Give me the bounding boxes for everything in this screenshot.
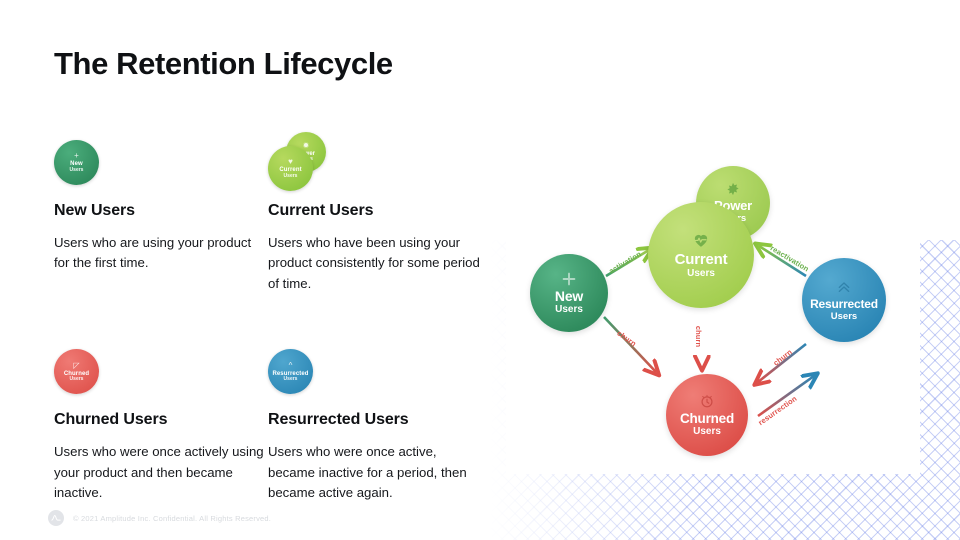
- chevron-up-double-icon: [836, 279, 852, 295]
- feature-heading-new-users: New Users: [54, 202, 268, 220]
- heart-pulse-icon: ♥: [288, 158, 293, 166]
- feature-body-new-users: Users who are using your product for the…: [54, 233, 268, 274]
- badge-current-users: ♥ Current Users: [268, 146, 313, 191]
- feature-body-churned-users: Users who were once actively using your …: [54, 442, 268, 503]
- slide-canvas: The Retention Lifecycle + New Users New …: [0, 0, 960, 540]
- amplitude-logo-icon: [48, 510, 64, 526]
- footer: © 2021 Amplitude Inc. Confidential. All …: [48, 510, 271, 526]
- badge-resurrected-users: ^ Resurrected Users: [268, 349, 313, 394]
- badge-label-line2: Users: [284, 377, 298, 382]
- feature-body-resurrected-users: Users who were once active, became inact…: [268, 442, 482, 503]
- diagram-node-current-users[interactable]: Current Users: [648, 202, 754, 308]
- heart-pulse-icon: [692, 231, 710, 249]
- plus-icon: [562, 272, 576, 286]
- feature-card-churned-users: ◸ Churned Users Churned Users Users who …: [54, 341, 268, 503]
- feature-body-current-users: Users who have been using your product c…: [268, 233, 482, 294]
- lifecycle-diagram-card: activation churn churn resurrection chur…: [506, 154, 920, 474]
- edge-label-current-churn: churn: [694, 326, 703, 347]
- node-label-line1: Current: [675, 251, 728, 268]
- diagram-node-new-users[interactable]: New Users: [530, 254, 608, 332]
- badge-label-line2: Users: [284, 174, 298, 179]
- sparkle-icon: ✹: [303, 142, 310, 150]
- badge-group-current-users: ✹ Power Users ♥ Current Users: [268, 132, 482, 188]
- feature-card-resurrected-users: ^ Resurrected Users Resurrected Users Us…: [268, 341, 482, 503]
- clock-icon: [699, 393, 715, 409]
- diagram-node-churned-users[interactable]: Churned Users: [666, 374, 748, 456]
- node-label-line1: Churned: [680, 411, 734, 426]
- badge-label-line2: Users: [70, 168, 84, 173]
- diagram-node-resurrected-users[interactable]: Resurrected Users: [802, 258, 886, 342]
- badge-label-line2: Users: [70, 377, 84, 382]
- node-label-line2: Users: [555, 304, 583, 315]
- feature-row-2: ◸ Churned Users Churned Users Users who …: [54, 341, 482, 503]
- node-label-line2: Users: [693, 426, 721, 437]
- feature-card-new-users: + New Users New Users Users who are usin…: [54, 132, 268, 294]
- feature-heading-churned-users: Churned Users: [54, 411, 268, 429]
- lifecycle-diagram: activation churn churn resurrection chur…: [506, 154, 920, 474]
- node-label-line1: Resurrected: [810, 297, 878, 311]
- feature-row-1: + New Users New Users Users who are usin…: [54, 132, 482, 294]
- chevron-up-double-icon: ^: [289, 362, 293, 370]
- plus-icon: +: [74, 152, 79, 160]
- badge-new-users: + New Users: [54, 140, 99, 185]
- node-label-line2: Users: [831, 311, 857, 322]
- page-title: The Retention Lifecycle: [54, 46, 393, 82]
- badge-churned-users: ◸ Churned Users: [54, 349, 99, 394]
- sparkle-icon: [726, 182, 740, 196]
- clock-icon: ◸: [73, 362, 79, 370]
- copyright-text: © 2021 Amplitude Inc. Confidential. All …: [73, 514, 271, 523]
- feature-grid: + New Users New Users Users who are usin…: [54, 132, 482, 504]
- feature-card-current-users: ✹ Power Users ♥ Current Users Current Us…: [268, 132, 482, 294]
- node-label-line1: New: [555, 288, 583, 304]
- feature-heading-resurrected-users: Resurrected Users: [268, 411, 482, 429]
- badge-group-new-users: + New Users: [54, 132, 268, 188]
- badge-group-churned-users: ◸ Churned Users: [54, 341, 268, 397]
- feature-heading-current-users: Current Users: [268, 202, 482, 220]
- badge-group-resurrected-users: ^ Resurrected Users: [268, 341, 482, 397]
- node-label-line2: Users: [687, 268, 715, 279]
